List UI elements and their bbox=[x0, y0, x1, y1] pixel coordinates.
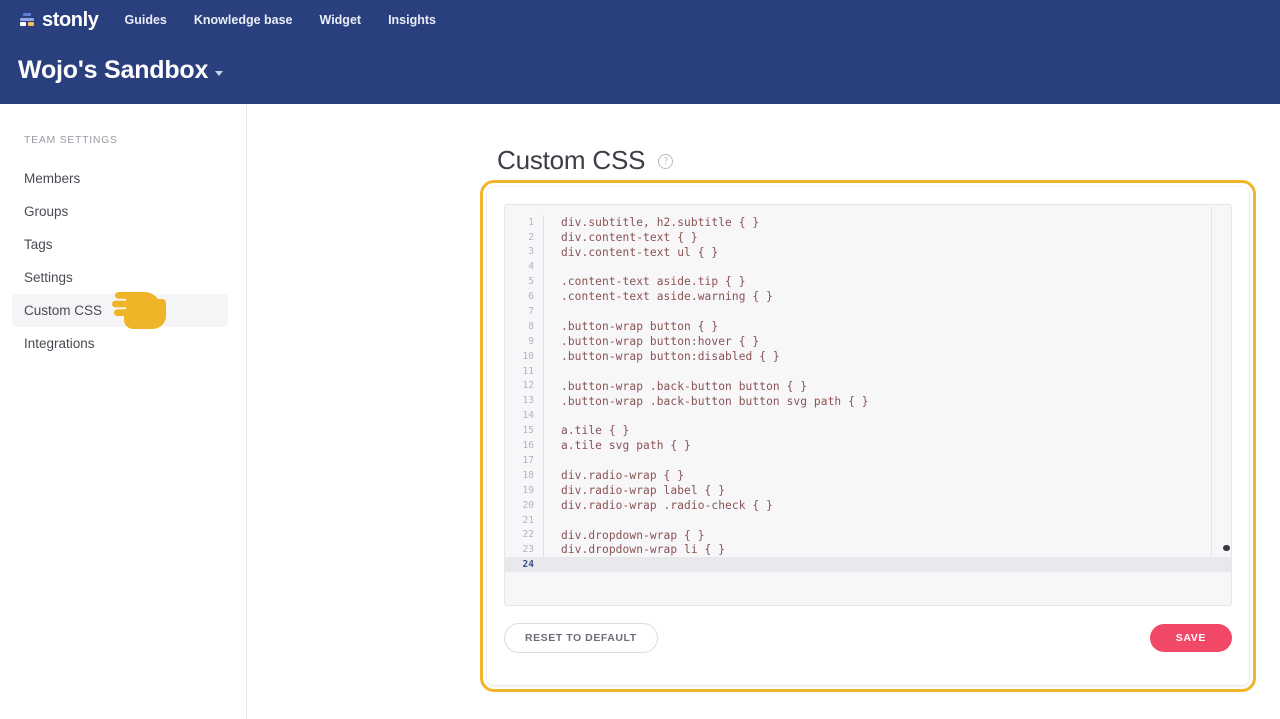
gutter-divider bbox=[543, 557, 544, 572]
stonly-logo-icon bbox=[18, 11, 36, 29]
code-line[interactable]: 23div.dropdown-wrap li { } bbox=[505, 543, 1231, 558]
code-line[interactable]: 14 bbox=[505, 409, 1231, 424]
gutter-divider bbox=[543, 364, 544, 379]
code-line-text: div.radio-wrap .radio-check { } bbox=[544, 500, 773, 511]
code-line[interactable]: 13.button-wrap .back-button button svg p… bbox=[505, 394, 1231, 409]
sidebar-item-custom-css[interactable]: Custom CSS bbox=[12, 294, 228, 327]
gutter-divider bbox=[543, 304, 544, 319]
sidebar-item-label: Groups bbox=[24, 204, 68, 219]
line-number: 19 bbox=[505, 486, 543, 496]
line-number: 21 bbox=[505, 516, 543, 526]
code-line[interactable]: 18div.radio-wrap { } bbox=[505, 468, 1231, 483]
workspace-switcher[interactable]: Wojo's Sandbox bbox=[18, 58, 223, 83]
main-content: Custom CSS ? 1div.subtitle, h2.subtitle … bbox=[248, 104, 1280, 719]
editor-right-rule bbox=[1211, 207, 1212, 557]
line-number: 14 bbox=[505, 411, 543, 421]
code-line[interactable]: 5.content-text aside.tip { } bbox=[505, 275, 1231, 290]
code-line-text: div.subtitle, h2.subtitle { } bbox=[544, 217, 759, 228]
sidebar-item-members[interactable]: Members bbox=[12, 162, 228, 195]
pointing-hand-icon bbox=[110, 289, 166, 331]
code-line-text: div.radio-wrap label { } bbox=[544, 485, 725, 496]
code-line[interactable]: 6.content-text aside.warning { } bbox=[505, 289, 1231, 304]
nav-links: Guides Knowledge base Widget Insights bbox=[125, 13, 463, 27]
sidebar-heading: TEAM SETTINGS bbox=[0, 134, 246, 146]
code-line[interactable]: 20div.radio-wrap .radio-check { } bbox=[505, 498, 1231, 513]
code-line[interactable]: 11 bbox=[505, 364, 1231, 379]
brand-name: stonly bbox=[42, 10, 99, 30]
line-number: 6 bbox=[505, 292, 543, 302]
nav-item-widget[interactable]: Widget bbox=[320, 13, 362, 27]
code-line[interactable]: 15a.tile { } bbox=[505, 423, 1231, 438]
sidebar: TEAM SETTINGS Members Groups Tags Settin… bbox=[0, 104, 247, 719]
sidebar-list: Members Groups Tags Settings Custom CSS … bbox=[0, 162, 246, 360]
sidebar-item-tags[interactable]: Tags bbox=[12, 228, 228, 261]
primary-nav: stonly Guides Knowledge base Widget Insi… bbox=[0, 0, 463, 40]
code-line[interactable]: 3div.content-text ul { } bbox=[505, 245, 1231, 260]
sidebar-item-label: Members bbox=[24, 171, 80, 186]
code-line[interactable]: 2div.content-text { } bbox=[505, 230, 1231, 245]
code-line-text: .content-text aside.warning { } bbox=[544, 291, 773, 302]
custom-css-card: 1div.subtitle, h2.subtitle { }2div.conte… bbox=[487, 187, 1249, 685]
code-line-text: div.dropdown-wrap li { } bbox=[544, 544, 725, 555]
code-line[interactable]: 16a.tile svg path { } bbox=[505, 438, 1231, 453]
code-line-text: .button-wrap .back-button button svg pat… bbox=[544, 396, 869, 407]
sidebar-item-label: Settings bbox=[24, 270, 73, 285]
code-line[interactable]: 7 bbox=[505, 304, 1231, 319]
code-line-text: .button-wrap button { } bbox=[544, 321, 718, 332]
line-number: 2 bbox=[505, 233, 543, 243]
code-line[interactable]: 4 bbox=[505, 260, 1231, 275]
sidebar-item-groups[interactable]: Groups bbox=[12, 195, 228, 228]
code-line-text: .button-wrap .back-button button { } bbox=[544, 381, 807, 392]
code-line-text: .button-wrap button:disabled { } bbox=[544, 351, 780, 362]
code-line[interactable]: 12.button-wrap .back-button button { } bbox=[505, 379, 1231, 394]
gutter-divider bbox=[543, 260, 544, 275]
sidebar-item-label: Integrations bbox=[24, 336, 95, 351]
line-number: 18 bbox=[505, 471, 543, 481]
code-line[interactable]: 21 bbox=[505, 513, 1231, 528]
line-number: 9 bbox=[505, 337, 543, 347]
line-number: 13 bbox=[505, 396, 543, 406]
line-number: 15 bbox=[505, 426, 543, 436]
page-title: Custom CSS bbox=[497, 147, 645, 173]
code-line-text: div.content-text { } bbox=[544, 232, 698, 243]
code-line[interactable]: 19div.radio-wrap label { } bbox=[505, 483, 1231, 498]
code-line-text: div.content-text ul { } bbox=[544, 247, 718, 258]
line-number: 10 bbox=[505, 352, 543, 362]
code-line-text: .button-wrap button:hover { } bbox=[544, 336, 759, 347]
line-number: 16 bbox=[505, 441, 543, 451]
top-header: stonly Guides Knowledge base Widget Insi… bbox=[0, 0, 1280, 104]
line-number: 8 bbox=[505, 322, 543, 332]
code-line[interactable]: 1div.subtitle, h2.subtitle { } bbox=[505, 215, 1231, 230]
code-line[interactable]: 22div.dropdown-wrap { } bbox=[505, 528, 1231, 543]
code-line-text: div.radio-wrap { } bbox=[544, 470, 684, 481]
line-number: 17 bbox=[505, 456, 543, 466]
line-number: 11 bbox=[505, 367, 543, 377]
code-line-text: div.dropdown-wrap { } bbox=[544, 530, 705, 541]
code-line-text: .content-text aside.tip { } bbox=[544, 276, 746, 287]
line-number: 12 bbox=[505, 381, 543, 391]
line-number: 4 bbox=[505, 262, 543, 272]
code-line-text: a.tile { } bbox=[544, 425, 629, 436]
sidebar-item-label: Custom CSS bbox=[24, 303, 102, 318]
editor-lines: 1div.subtitle, h2.subtitle { }2div.conte… bbox=[505, 205, 1231, 572]
nav-item-knowledge-base[interactable]: Knowledge base bbox=[194, 13, 293, 27]
workspace-name: Wojo's Sandbox bbox=[18, 58, 208, 83]
line-number: 20 bbox=[505, 501, 543, 511]
question-mark-icon[interactable]: ? bbox=[658, 154, 673, 169]
nav-item-guides[interactable]: Guides bbox=[125, 13, 167, 27]
line-number: 23 bbox=[505, 545, 543, 555]
line-number: 5 bbox=[505, 277, 543, 287]
line-number: 7 bbox=[505, 307, 543, 317]
sidebar-item-settings[interactable]: Settings bbox=[12, 261, 228, 294]
chevron-down-icon bbox=[215, 71, 223, 76]
gutter-divider bbox=[543, 409, 544, 424]
brand-logo[interactable]: stonly bbox=[18, 10, 99, 30]
code-line[interactable]: 8.button-wrap button { } bbox=[505, 319, 1231, 334]
css-code-editor[interactable]: 1div.subtitle, h2.subtitle { }2div.conte… bbox=[504, 204, 1232, 606]
line-number: 22 bbox=[505, 530, 543, 540]
gutter-divider bbox=[543, 513, 544, 528]
code-line[interactable]: 9.button-wrap button:hover { } bbox=[505, 334, 1231, 349]
gutter-divider bbox=[543, 453, 544, 468]
code-line[interactable]: 10.button-wrap button:disabled { } bbox=[505, 349, 1231, 364]
code-line[interactable]: 17 bbox=[505, 453, 1231, 468]
reset-to-default-button[interactable]: RESET TO DEFAULT bbox=[504, 623, 658, 653]
sidebar-item-integrations[interactable]: Integrations bbox=[12, 327, 228, 360]
page-header: Custom CSS ? bbox=[497, 147, 673, 173]
code-line-text: a.tile svg path { } bbox=[544, 440, 691, 451]
line-number: 24 bbox=[505, 560, 543, 570]
sidebar-item-label: Tags bbox=[24, 237, 53, 252]
line-number: 3 bbox=[505, 247, 543, 257]
code-line[interactable]: 24 bbox=[505, 557, 1231, 572]
card-footer: RESET TO DEFAULT SAVE bbox=[504, 608, 1232, 668]
line-number: 1 bbox=[505, 218, 543, 228]
save-button[interactable]: SAVE bbox=[1150, 624, 1232, 652]
nav-item-insights[interactable]: Insights bbox=[388, 13, 436, 27]
editor-scrollbar-thumb[interactable] bbox=[1223, 545, 1230, 551]
